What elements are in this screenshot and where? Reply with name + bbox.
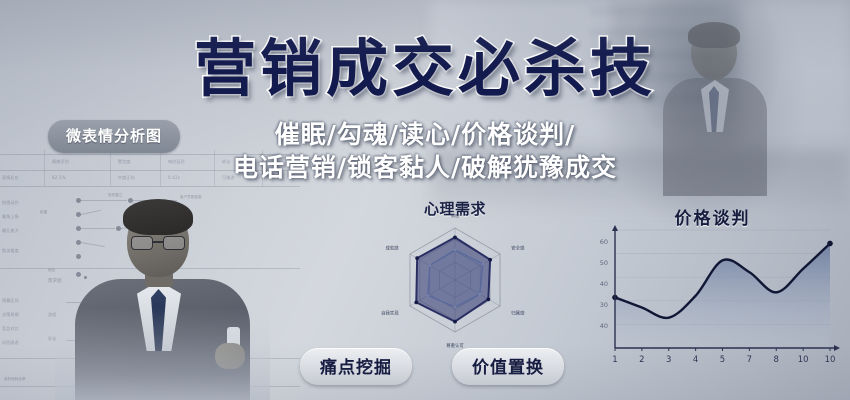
svg-text:安全感: 安全感 [511, 245, 525, 252]
svg-text:3: 3 [666, 355, 671, 365]
pill-pain-point-mining[interactable]: 痛点挖掘 [300, 348, 412, 385]
subtitle-line-2: 电话营销/锁客黏人/破解犹豫成交 [0, 153, 850, 183]
pill-value-exchange[interactable]: 价值置换 [452, 348, 564, 385]
presenter-photo [55, 195, 270, 400]
radar-chart-canvas: 情感安全感归属感尊重认可自我实现成就感 [330, 214, 580, 358]
presenter-fade-mask [55, 195, 270, 400]
svg-text:7: 7 [747, 355, 752, 365]
svg-text:自我实现: 自我实现 [381, 310, 399, 317]
svg-text:40: 40 [600, 280, 608, 288]
line-chart-canvas: 605040304012345781010 [585, 222, 840, 382]
price-negotiation-line-chart: 价格谈判 605040304012345781010 [585, 200, 840, 385]
svg-text:60: 60 [600, 238, 608, 246]
svg-text:归属感: 归属感 [511, 310, 525, 317]
marketing-banner: 情绪识别 置信度 响应延迟 结论 表情反应 82.5% 中度正向 0.42s 可… [0, 0, 850, 400]
psychological-needs-radar-chart: 心理需求 情感安全感归属感尊重认可自我实现成就感 [330, 198, 580, 358]
svg-text:10: 10 [825, 355, 836, 365]
svg-text:40: 40 [600, 322, 608, 330]
svg-text:4: 4 [693, 355, 698, 365]
page-title: 营销成交必杀技 [0, 38, 850, 100]
svg-text:5: 5 [720, 355, 725, 365]
svg-text:1: 1 [612, 355, 617, 365]
svg-text:尊重认可: 尊重认可 [446, 342, 464, 349]
subtitle-line-1: 催眠/勾魂/读心/价格谈判/ [0, 120, 850, 150]
svg-text:10: 10 [798, 355, 809, 365]
svg-text:2: 2 [639, 355, 644, 365]
svg-text:50: 50 [600, 259, 608, 267]
svg-text:情感: 情感 [451, 214, 460, 219]
svg-text:成就感: 成就感 [386, 245, 400, 252]
svg-text:30: 30 [600, 301, 608, 309]
svg-text:8: 8 [774, 355, 779, 365]
